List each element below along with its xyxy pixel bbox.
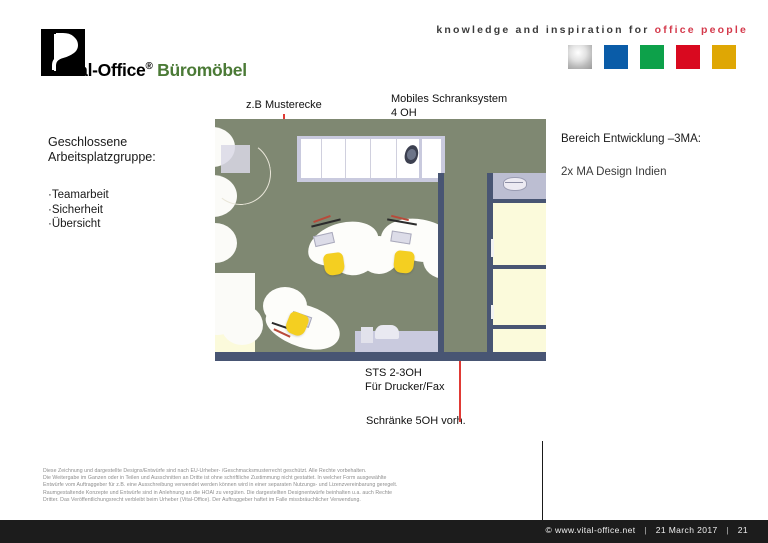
left-panel-bullets: ·Teamarbeit ·Sicherheit ·Übersicht [48, 188, 109, 232]
right-panel-subtitle: 2x MA Design Indien [561, 166, 666, 178]
legal-line: Entwürfe vom Auftraggeber für z.B. eine … [43, 482, 513, 489]
bullet-sicherheit: ·Sicherheit [48, 203, 109, 218]
chair-yellow [323, 252, 346, 277]
wall-horizontal [493, 265, 546, 269]
wall-vertical [438, 173, 444, 353]
chair-yellow [393, 250, 415, 274]
vertical-divider [542, 441, 543, 520]
cabinet-divider [345, 139, 346, 178]
callout-schranksystem: Mobiles Schranksystem 4 OH [391, 93, 507, 120]
tagline-accent: office people [655, 24, 748, 36]
corridor-floor [444, 173, 487, 353]
office-floor-plan-top-view [215, 119, 546, 361]
cabinet-divider [370, 139, 371, 178]
cabinet-divider [396, 139, 397, 178]
printer-unit [375, 325, 399, 339]
bullet-uebersicht: ·Übersicht [48, 217, 109, 232]
swatch-red [676, 45, 700, 69]
adjacent-room [493, 269, 546, 325]
desk-blob-edge [221, 305, 263, 345]
callout-musterecke: z.B Musterecke [246, 99, 322, 113]
door-opening [491, 239, 494, 257]
legal-line: Raumgestaltende Konzepte und Entwürfe si… [43, 490, 513, 497]
slide-canvas: Vital-Office® Büromöbel knowledge and in… [0, 0, 768, 543]
round-table [503, 177, 527, 191]
cabinet-inner-surface [301, 139, 419, 178]
legal-disclaimer: Diese Zeichnung und dargestellte Designs… [43, 468, 513, 504]
swatch-green [640, 45, 664, 69]
adjacent-room [493, 202, 546, 265]
header-tagline: knowledge and inspiration for office peo… [436, 24, 748, 36]
footer-date: 21 March 2017 [656, 525, 718, 535]
legal-line: Dritter. Das Veröffentlichungsrecht verb… [43, 497, 513, 504]
footer-meta: © www.vital-office.net | 21 March 2017 |… [546, 525, 748, 535]
right-panel-title: Bereich Entwicklung –3MA: [561, 133, 701, 145]
brand-wordmark: Vital-Office® Büromöbel [57, 60, 247, 81]
cabinet-divider [321, 139, 322, 178]
swatch-silver [568, 45, 592, 69]
left-panel-title: Geschlossene Arbeitsplatzgruppe: [48, 135, 156, 165]
swatch-gold [712, 45, 736, 69]
wall-horizontal [493, 325, 546, 329]
registered-mark: ® [145, 61, 152, 72]
callout-schraenke: Schränke 5OH vorh. [366, 415, 466, 429]
brand-name: Vital-Office [57, 60, 145, 80]
tagline-main: knowledge and inspiration for [436, 24, 649, 36]
footer-separator: | [720, 525, 735, 535]
swatch-blue [604, 45, 628, 69]
bullet-teamarbeit: ·Teamarbeit [48, 188, 109, 203]
printer-unit [361, 327, 373, 343]
door-opening [491, 305, 494, 319]
brand-subtitle: Büromöbel [157, 60, 247, 80]
callout-sts: STS 2-3OH Für Drucker/Fax [365, 367, 444, 394]
round-table-detail [505, 182, 523, 183]
adjacent-room [493, 329, 546, 353]
footer-separator: | [638, 525, 653, 535]
musterecke-unit [221, 145, 250, 173]
desk-blob-edge [215, 223, 237, 263]
footer-bar: © www.vital-office.net | 21 March 2017 |… [0, 520, 768, 543]
legal-line: Diese Zeichnung und dargestellte Designs… [43, 468, 513, 475]
footer-copyright[interactable]: © www.vital-office.net [546, 525, 636, 535]
brand-color-swatches [568, 45, 736, 69]
footer-page-number: 21 [738, 525, 748, 535]
wall-bottom [215, 352, 546, 361]
legal-line: Die Weitergabe im Ganzen oder in Teilen … [43, 475, 513, 482]
wall-horizontal [493, 199, 546, 203]
